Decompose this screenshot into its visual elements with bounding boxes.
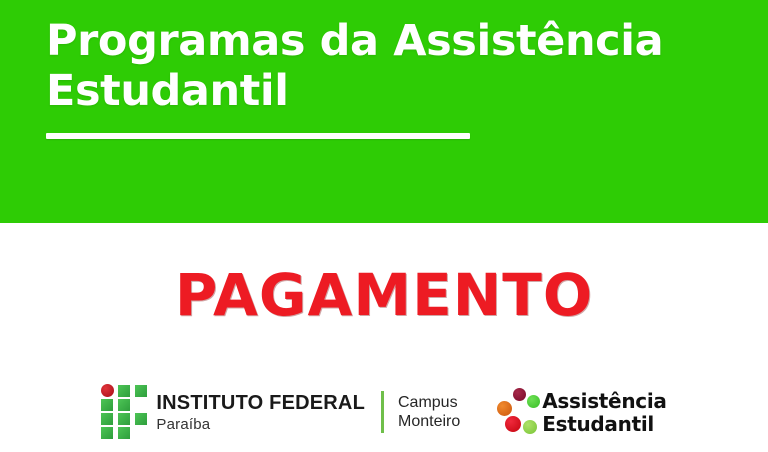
footer-divider: [381, 391, 384, 433]
header-banner: Programas da Assistência Estudantil: [0, 0, 768, 223]
headline-pagamento: PAGAMENTO: [0, 264, 768, 326]
ifpb-state-name: Paraíba: [156, 417, 365, 432]
assistencia-estudantil-wordmark: Assistência Estudantil: [542, 391, 666, 434]
title-underline-rule: [46, 133, 470, 139]
footer-logo-strip: INSTITUTO FEDERAL Paraíba Campus Monteir…: [0, 372, 768, 452]
campus-line-2: Monteiro: [398, 412, 460, 431]
assistencia-estudantil-logo: Assistência Estudantil: [496, 387, 666, 437]
assistencia-line-2: Estudantil: [542, 414, 666, 434]
page-title: Programas da Assistência Estudantil: [46, 16, 706, 116]
ifpb-wordmark: INSTITUTO FEDERAL Paraíba: [156, 393, 365, 432]
assistencia-line-1: Assistência: [542, 391, 666, 411]
assistencia-estudantil-logo-mark-icon: [496, 387, 540, 437]
campus-label: Campus Monteiro: [398, 393, 460, 431]
campus-line-1: Campus: [398, 393, 460, 412]
ifpb-institute-name: INSTITUTO FEDERAL: [156, 393, 365, 413]
poster-canvas: Programas da Assistência Estudantil PAGA…: [0, 0, 768, 452]
ifpb-logo-mark-icon: [101, 384, 147, 441]
page-title-line-2: Estudantil: [46, 66, 706, 116]
page-title-line-1: Programas da Assistência: [46, 16, 706, 66]
ifpb-logo: INSTITUTO FEDERAL Paraíba: [101, 384, 365, 441]
